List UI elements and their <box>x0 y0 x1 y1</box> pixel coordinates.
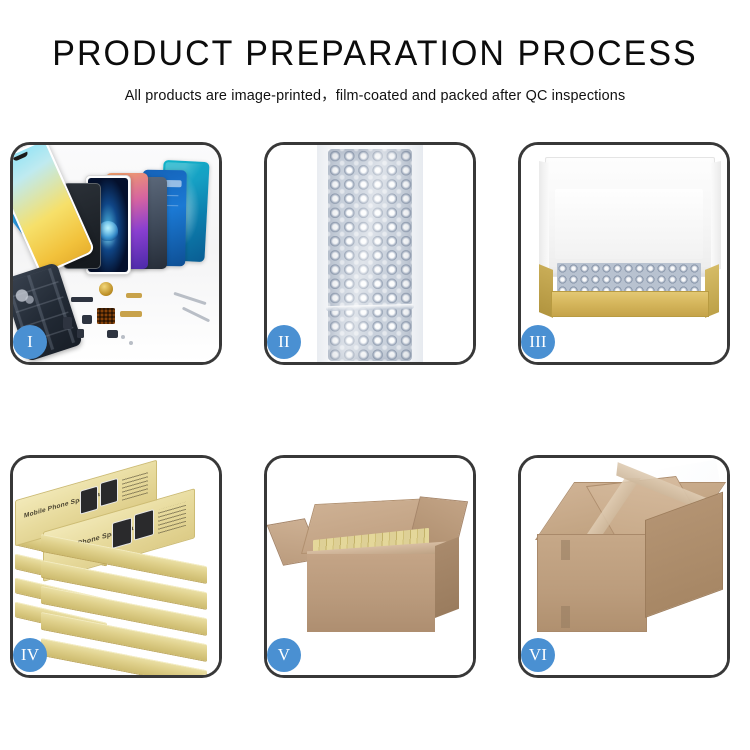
page-header: PRODUCT PREPARATION PROCESS All products… <box>0 0 750 105</box>
open-carton-illustration <box>267 458 473 675</box>
phone-parts-illustration <box>13 145 219 362</box>
box-spec-lines-front <box>158 502 186 534</box>
step-badge-1: I <box>13 325 47 359</box>
component-camera-module <box>82 315 92 324</box>
carton-seam-lower <box>561 606 570 628</box>
step-badge-6: VI <box>521 638 555 672</box>
bubble-wrap-illustration <box>267 145 473 362</box>
component-speaker-coil <box>99 282 113 296</box>
component-tweezers <box>173 292 206 305</box>
component-screw-1 <box>121 335 125 339</box>
step-panel-3[interactable]: III <box>518 142 730 365</box>
step-panel-4[interactable]: Mobile Phone Spare Parts Mobile Phone Sp… <box>10 455 222 678</box>
bubble-wrapped-product-in-box <box>557 263 701 293</box>
component-vibrator <box>107 330 118 338</box>
box-spec-lines-back <box>122 471 148 500</box>
component-screw-2 <box>129 341 133 345</box>
component-charging-port <box>63 317 72 329</box>
step-image-5 <box>267 458 473 675</box>
step-image-1 <box>13 145 219 362</box>
carton-front-face-sealed <box>537 534 647 632</box>
component-button-set <box>77 329 84 338</box>
carton-seam-upper <box>561 540 570 560</box>
box-screen-art-back-1 <box>80 486 98 515</box>
carton-front-face <box>307 554 435 632</box>
step-image-3 <box>521 145 727 362</box>
component-screwdriver <box>182 307 210 323</box>
step-badge-4: IV <box>13 638 47 672</box>
step-image-2 <box>267 145 473 362</box>
step-image-4: Mobile Phone Spare Parts Mobile Phone Sp… <box>13 458 219 675</box>
step-badge-3: III <box>521 325 555 359</box>
component-flex-cable-1 <box>126 293 142 298</box>
foam-insert <box>555 189 703 259</box>
step-panel-1[interactable]: I <box>10 142 222 365</box>
step-badge-2: II <box>267 325 301 359</box>
page-title: PRODUCT PREPARATION PROCESS <box>11 0 739 73</box>
box-screen-art-front-1 <box>112 517 132 549</box>
step-panel-2[interactable]: II <box>264 142 476 365</box>
step-panel-6[interactable]: VI <box>518 455 730 678</box>
plastic-sheen <box>317 145 423 362</box>
step-panel-5[interactable]: V <box>264 455 476 678</box>
box-front-panel <box>551 291 709 317</box>
carton-side-face <box>435 537 459 618</box>
component-ic-chip <box>97 308 115 324</box>
step-image-6 <box>521 458 727 675</box>
component-flex-cable-2 <box>120 311 142 317</box>
step-badge-5: V <box>267 638 301 672</box>
open-kraft-box-illustration <box>521 145 727 362</box>
process-step-grid: I II III <box>10 142 740 678</box>
box-screen-art-back-2 <box>100 478 118 507</box>
component-connector-1 <box>71 297 93 302</box>
stacked-boxes-illustration: Mobile Phone Spare Parts Mobile Phone Sp… <box>13 458 219 675</box>
box-screen-art-front-2 <box>134 509 154 541</box>
sealed-carton-illustration <box>521 458 727 675</box>
page-subtitle: All products are image-printed，film-coat… <box>0 73 750 105</box>
